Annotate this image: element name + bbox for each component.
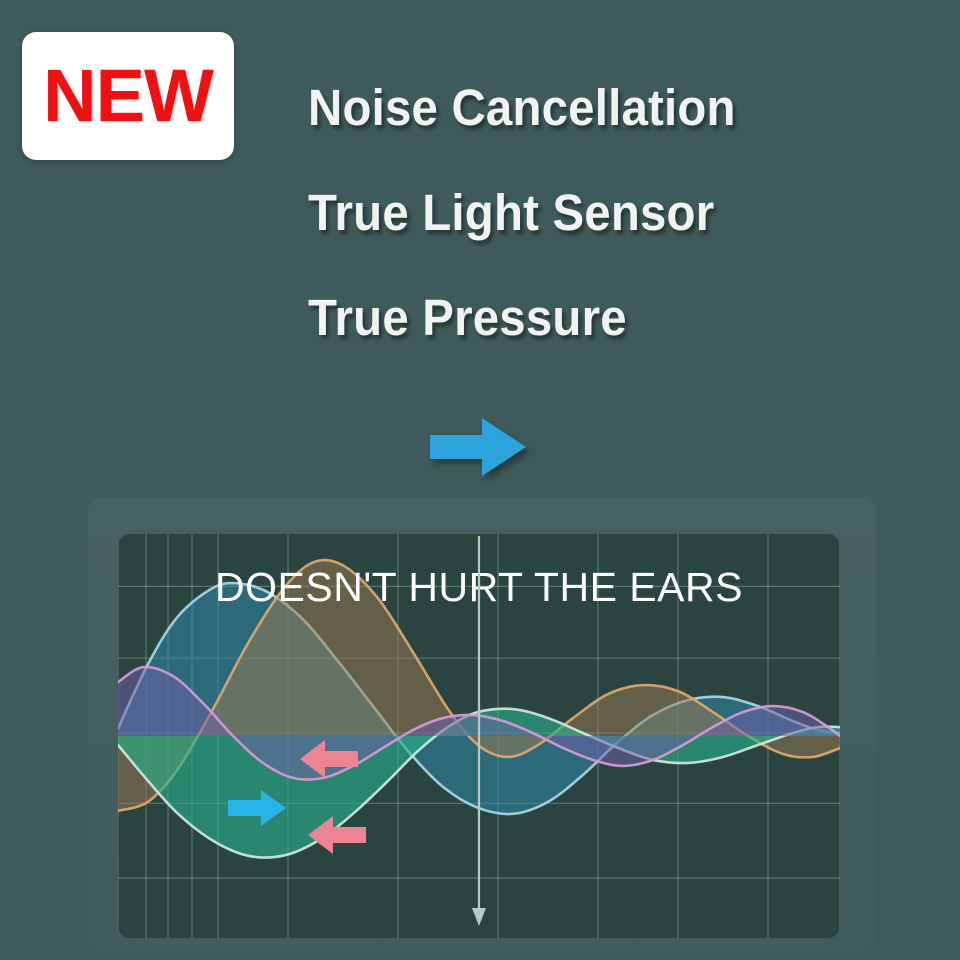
arrow-down-icon — [468, 536, 490, 926]
headline-line-1: Noise Cancellation — [308, 55, 866, 160]
arrow-right-icon — [228, 790, 286, 826]
new-badge: NEW — [22, 32, 234, 160]
new-badge-label: NEW — [43, 59, 213, 133]
headline-line-2: True Light Sensor — [308, 160, 866, 265]
headline-line-3: True Pressure — [308, 265, 866, 370]
arrow-left-icon — [308, 816, 366, 854]
feature-headline-list: Noise Cancellation True Light Sensor Tru… — [308, 55, 908, 370]
poster-canvas: NEW Noise Cancellation True Light Sensor… — [0, 0, 960, 960]
arrow-left-icon — [300, 740, 358, 778]
arrow-right-icon — [430, 418, 526, 476]
